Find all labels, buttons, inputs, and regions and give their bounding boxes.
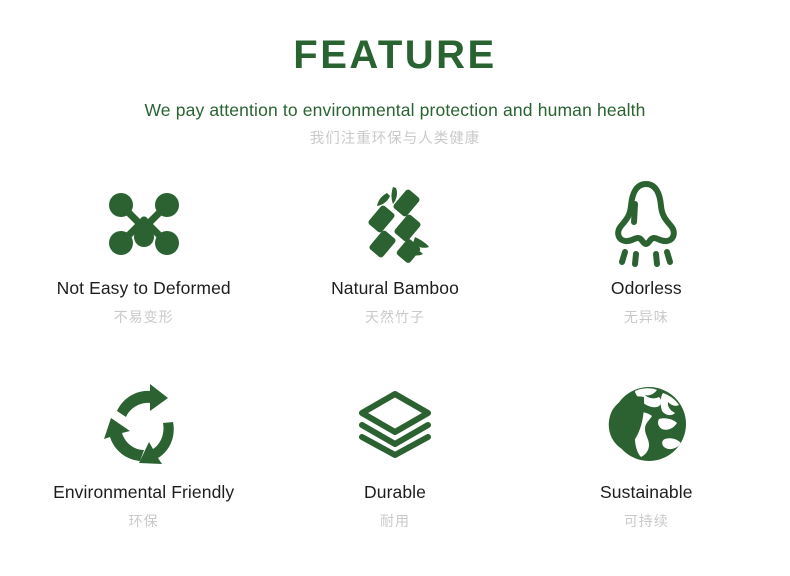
feature-item-not-easy-to-deformed: Not Easy to Deformed 不易变形 [18,172,269,368]
globe-leaf-icon [605,368,687,480]
subtitle-chinese: 我们注重环保与人类健康 [0,131,790,148]
nose-smell-icon [610,172,682,276]
feature-label-en: Durable [364,482,426,503]
feature-section: FEATURE We pay attention to environmenta… [0,0,790,576]
feature-item-odorless: Odorless 无异味 [521,172,772,368]
page-title: FEATURE [0,34,790,76]
feature-label-en: Sustainable [600,482,693,503]
feature-label-cn: 不易变形 [114,309,174,326]
feature-label-cn: 环保 [129,513,159,530]
feature-label-cn: 天然竹子 [365,309,425,326]
feature-label-cn: 耐用 [380,513,410,530]
feature-item-environmental-friendly: Environmental Friendly 环保 [18,368,269,564]
feature-label-cn: 可持续 [624,513,669,530]
feature-label-en: Environmental Friendly [53,482,234,503]
feature-label-en: Natural Bamboo [331,278,459,299]
feature-label-en: Not Easy to Deformed [57,278,231,299]
section-header: FEATURE We pay attention to environmenta… [0,0,790,148]
stacked-layers-icon [357,368,433,480]
subtitle-english: We pay attention to environmental protec… [0,100,790,121]
recycle-arrows-icon [102,368,186,480]
feature-grid: Not Easy to Deformed 不易变形 [0,172,790,564]
feature-item-durable: Durable 耐用 [269,368,520,564]
feature-label-cn: 无异味 [624,309,669,326]
bamboo-stalks-icon [357,172,433,276]
feature-label-en: Odorless [611,278,682,299]
lattice-nodes-icon [105,172,183,276]
feature-item-natural-bamboo: Natural Bamboo 天然竹子 [269,172,520,368]
feature-item-sustainable: Sustainable 可持续 [521,368,772,564]
